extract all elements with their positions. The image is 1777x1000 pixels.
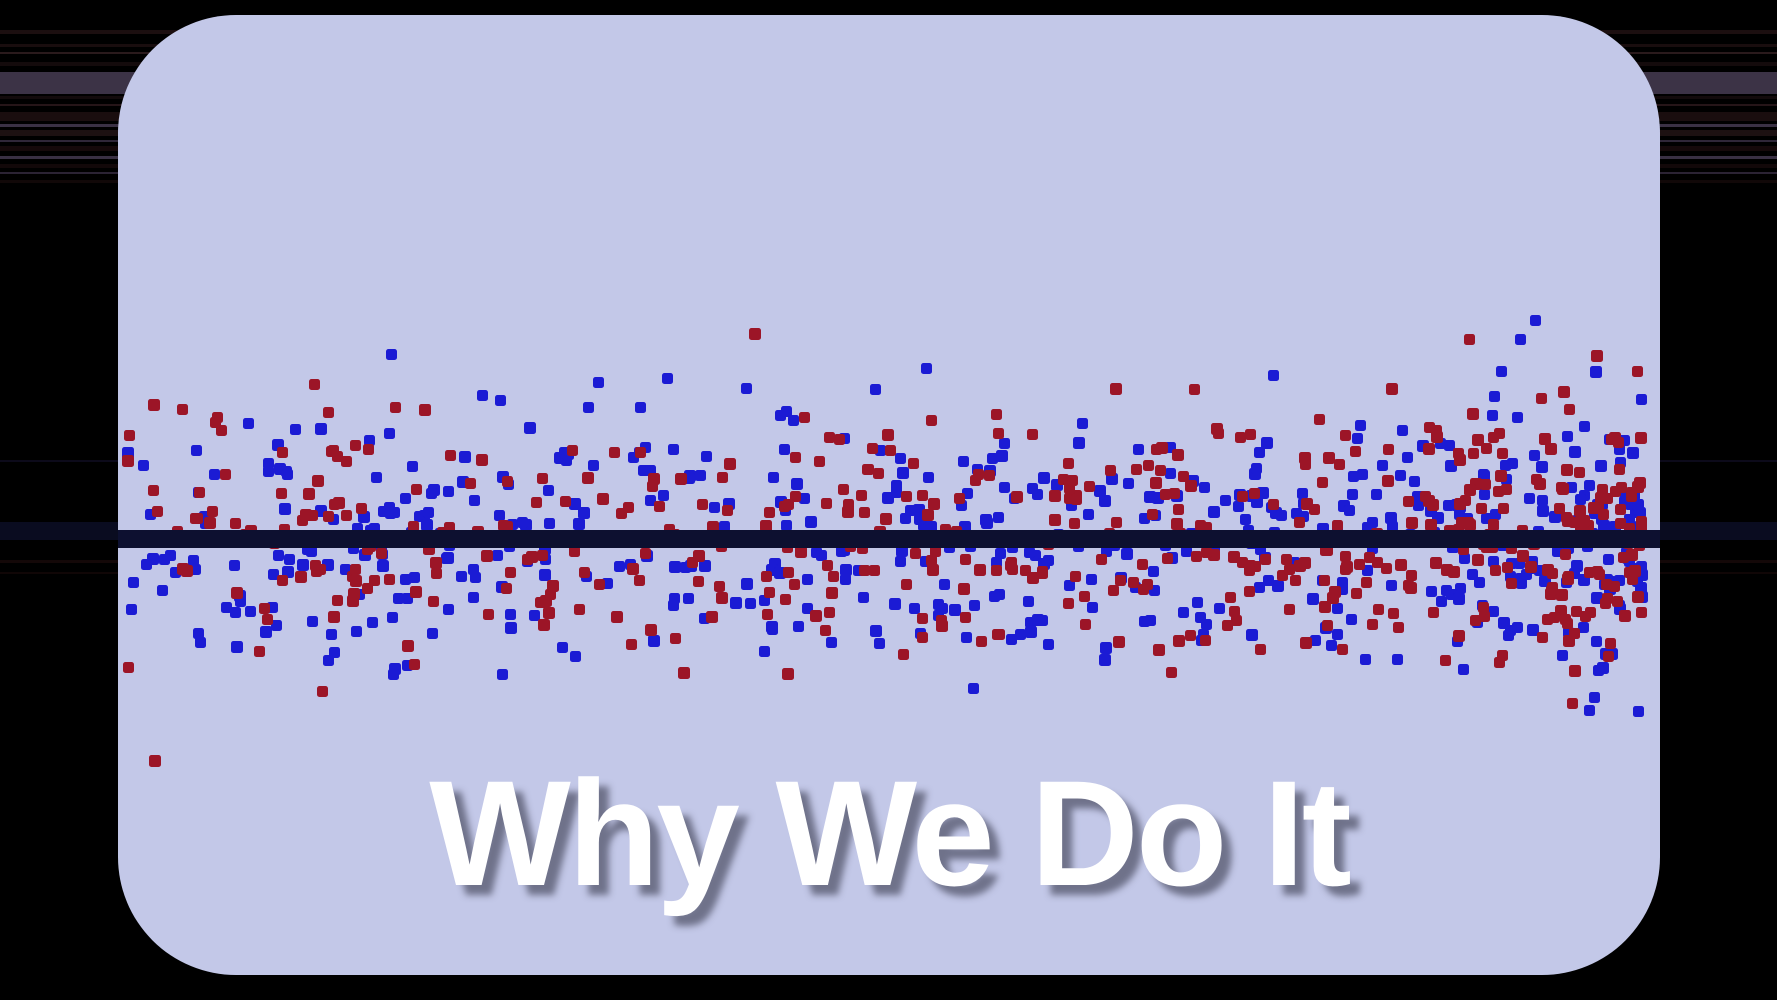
scatter-point bbox=[1367, 517, 1378, 528]
scatter-point bbox=[714, 581, 725, 592]
scatter-point bbox=[840, 574, 851, 585]
scatter-point bbox=[350, 575, 362, 587]
scatter-point bbox=[722, 505, 733, 516]
scatter-point bbox=[759, 646, 770, 657]
scatter-point bbox=[1011, 491, 1023, 503]
scatter-point bbox=[259, 603, 270, 614]
scatter-point bbox=[1027, 483, 1038, 494]
scatter-point bbox=[329, 647, 340, 658]
scatter-point bbox=[1626, 491, 1637, 502]
scatter-point bbox=[1574, 505, 1586, 517]
scatter-point bbox=[141, 559, 152, 570]
scatter-point bbox=[204, 517, 216, 529]
scatter-point bbox=[194, 487, 205, 498]
scatter-point bbox=[976, 636, 987, 647]
scatter-point bbox=[1591, 636, 1602, 647]
scatter-point bbox=[1105, 465, 1116, 476]
scatter-point bbox=[1530, 315, 1541, 326]
scatter-point bbox=[730, 597, 742, 609]
scatter-point bbox=[856, 490, 867, 501]
scatter-point bbox=[961, 632, 972, 643]
scatter-point bbox=[1502, 562, 1513, 573]
scatter-point bbox=[323, 407, 334, 418]
scatter-point bbox=[1409, 476, 1420, 487]
scatter-point bbox=[1515, 334, 1526, 345]
scatter-point bbox=[1496, 366, 1507, 377]
scatter-point bbox=[384, 574, 395, 585]
scatter-point bbox=[648, 635, 660, 647]
content-panel: Why We Do It bbox=[118, 15, 1660, 975]
scatter-point bbox=[1110, 383, 1122, 395]
scatter-point bbox=[741, 578, 753, 590]
scatter-point bbox=[543, 485, 554, 496]
scatter-point bbox=[1536, 461, 1548, 473]
scatter-point bbox=[1563, 571, 1574, 582]
scatter-point bbox=[495, 395, 506, 406]
scatter-point bbox=[300, 509, 312, 521]
scatter-point bbox=[579, 567, 590, 578]
scatter-point bbox=[1500, 460, 1511, 471]
scatter-point bbox=[1488, 520, 1499, 531]
scatter-point bbox=[229, 560, 240, 571]
scatter-point bbox=[1027, 429, 1038, 440]
scatter-point bbox=[279, 503, 291, 515]
scatter-point bbox=[1038, 472, 1050, 484]
scatter-point bbox=[312, 475, 324, 487]
scatter-point bbox=[1453, 593, 1465, 605]
scatter-point bbox=[724, 458, 736, 470]
scatter-point bbox=[502, 476, 513, 487]
scatter-point bbox=[138, 460, 149, 471]
scatter-point bbox=[1307, 593, 1319, 605]
scatter-point bbox=[1299, 557, 1311, 569]
scatter-point bbox=[1071, 494, 1082, 505]
scatter-point bbox=[537, 550, 548, 561]
scatter-point bbox=[675, 473, 687, 485]
scatter-point bbox=[362, 583, 373, 594]
scatter-point bbox=[1561, 512, 1572, 523]
scatter-point bbox=[1531, 474, 1542, 485]
scatter-point bbox=[544, 518, 555, 529]
scatter-point bbox=[917, 490, 928, 501]
scatter-point bbox=[1458, 664, 1469, 675]
scatter-point bbox=[1561, 464, 1573, 476]
scatter-point bbox=[492, 550, 503, 561]
scatter-point bbox=[799, 493, 810, 504]
scatter-point bbox=[1453, 448, 1464, 459]
scatter-point bbox=[640, 548, 651, 559]
scatter-point bbox=[885, 445, 896, 456]
scatter-point bbox=[779, 444, 790, 455]
scatter-point bbox=[826, 637, 837, 648]
scatter-point bbox=[1108, 585, 1119, 596]
scatter-point bbox=[626, 639, 637, 650]
scatter-point bbox=[609, 447, 620, 458]
scatter-point bbox=[921, 363, 932, 374]
scatter-point bbox=[309, 379, 320, 390]
scatter-point bbox=[1558, 386, 1570, 398]
scatter-point bbox=[1173, 635, 1185, 647]
scatter-point bbox=[634, 575, 645, 586]
scatter-point bbox=[1155, 465, 1166, 476]
scatter-point bbox=[1150, 477, 1162, 489]
scatter-point bbox=[443, 604, 454, 615]
scatter-point bbox=[570, 651, 581, 662]
scatter-point bbox=[862, 464, 873, 475]
scatter-point bbox=[538, 619, 550, 631]
scatter-point bbox=[1185, 630, 1196, 641]
scatter-point bbox=[469, 495, 480, 506]
scatter-point bbox=[1591, 350, 1603, 362]
scatter-point bbox=[481, 550, 493, 562]
scatter-point bbox=[791, 478, 803, 490]
scatter-point bbox=[1237, 491, 1248, 502]
scatter-point bbox=[263, 466, 274, 477]
scatter-point bbox=[716, 592, 728, 604]
scatter-point bbox=[762, 609, 773, 620]
page-title: Why We Do It bbox=[118, 758, 1660, 908]
scatter-point bbox=[1403, 580, 1414, 591]
scatter-point bbox=[1178, 607, 1189, 618]
scatter-point bbox=[1441, 564, 1453, 576]
scatter-point bbox=[483, 609, 494, 620]
scatter-point bbox=[505, 622, 517, 634]
scatter-point bbox=[1549, 612, 1560, 623]
scatter-point bbox=[1479, 489, 1490, 500]
scatter-point bbox=[822, 560, 833, 571]
scatter-point bbox=[1208, 506, 1220, 518]
scatter-point bbox=[1153, 644, 1165, 656]
scatter-point bbox=[1006, 634, 1017, 645]
scatter-point bbox=[262, 614, 273, 625]
scatter-point bbox=[1472, 434, 1484, 446]
scatter-point bbox=[805, 516, 817, 528]
scatter-point bbox=[695, 470, 706, 481]
scatter-point bbox=[1487, 410, 1498, 421]
scatter-point bbox=[838, 484, 849, 495]
scatter-point bbox=[1627, 447, 1639, 459]
scatter-point bbox=[1579, 421, 1590, 432]
scatter-point bbox=[400, 574, 411, 585]
scatter-point bbox=[669, 561, 681, 573]
scatter-point bbox=[1489, 391, 1500, 402]
scatter-point bbox=[193, 628, 204, 639]
scatter-point bbox=[1440, 655, 1451, 666]
scatter-point bbox=[1319, 575, 1330, 586]
scatter-point bbox=[1300, 637, 1312, 649]
scatter-point bbox=[1276, 510, 1287, 521]
scatter-point bbox=[1245, 429, 1256, 440]
scatter-point bbox=[1598, 509, 1609, 520]
scatter-point bbox=[670, 633, 681, 644]
scatter-point bbox=[611, 611, 623, 623]
scatter-point bbox=[1454, 498, 1466, 510]
scatter-point bbox=[1592, 566, 1603, 577]
scatter-point bbox=[243, 418, 254, 429]
scatter-point bbox=[1268, 370, 1279, 381]
scatter-point bbox=[810, 610, 822, 622]
scatter-point bbox=[1361, 577, 1372, 588]
baseline-divider bbox=[118, 530, 1660, 548]
scatter-point bbox=[1077, 418, 1088, 429]
scatter-point bbox=[974, 564, 986, 576]
scatter-point bbox=[1073, 437, 1085, 449]
scatter-point bbox=[1373, 604, 1384, 615]
scatter-point bbox=[1314, 414, 1325, 425]
scatter-point bbox=[889, 598, 901, 610]
scatter-point bbox=[1512, 622, 1523, 633]
scatter-point bbox=[122, 455, 134, 467]
scatter-point bbox=[870, 384, 881, 395]
scatter-point bbox=[326, 629, 337, 640]
scatter-point bbox=[1290, 575, 1301, 586]
scatter-point bbox=[768, 472, 779, 483]
scatter-point bbox=[709, 502, 720, 513]
scatter-point bbox=[1498, 503, 1509, 514]
scatter-point bbox=[1529, 450, 1540, 461]
scatter-point bbox=[1086, 574, 1097, 585]
scatter-point bbox=[958, 456, 969, 467]
scatter-point bbox=[1498, 617, 1510, 629]
scatter-point bbox=[969, 600, 980, 611]
scatter-point bbox=[1249, 488, 1260, 499]
scatter-point bbox=[1142, 579, 1153, 590]
scatter-point bbox=[1220, 495, 1231, 506]
scatter-point bbox=[276, 488, 287, 499]
scatter-point bbox=[1069, 518, 1080, 529]
scatter-point bbox=[635, 402, 646, 413]
scatter-point bbox=[895, 556, 906, 567]
scatter-point bbox=[1024, 547, 1035, 558]
scatter-point bbox=[1263, 575, 1274, 586]
scatter-point bbox=[1584, 705, 1595, 716]
scatter-point bbox=[1201, 547, 1212, 558]
scatter-point bbox=[645, 624, 657, 636]
scatter-point bbox=[761, 571, 772, 582]
scatter-point bbox=[820, 625, 831, 636]
scatter-point bbox=[658, 490, 669, 501]
scatter-point bbox=[376, 548, 387, 559]
scatter-point bbox=[991, 409, 1002, 420]
scatter-point bbox=[1123, 478, 1134, 489]
scatter-point bbox=[273, 550, 284, 561]
scatter-point bbox=[683, 593, 694, 604]
scatter-point bbox=[788, 415, 799, 426]
scatter-point bbox=[874, 638, 885, 649]
scatter-point bbox=[277, 447, 288, 458]
scatter-point bbox=[1453, 630, 1465, 642]
scatter-point bbox=[706, 611, 718, 623]
scatter-point bbox=[1546, 585, 1557, 596]
scatter-point bbox=[1494, 428, 1505, 439]
scatter-point bbox=[1560, 549, 1571, 560]
scatter-point bbox=[840, 564, 852, 576]
scatter-point bbox=[390, 402, 401, 413]
scatter-point bbox=[697, 499, 708, 510]
scatter-point bbox=[1603, 651, 1614, 662]
scatter-point bbox=[1397, 425, 1408, 436]
scatter-point bbox=[356, 503, 367, 514]
scatter-point bbox=[1199, 482, 1210, 493]
scatter-point bbox=[1063, 458, 1074, 469]
scatter-point bbox=[1268, 499, 1279, 510]
scatter-point bbox=[445, 450, 456, 461]
scatter-point bbox=[1111, 517, 1122, 528]
scatter-point bbox=[1512, 412, 1523, 423]
scatter-point bbox=[1602, 493, 1613, 504]
scatter-point bbox=[654, 501, 665, 512]
scatter-point bbox=[468, 564, 479, 575]
scatter-point bbox=[981, 517, 993, 529]
scatter-point bbox=[917, 613, 928, 624]
scatter-point bbox=[1600, 598, 1611, 609]
scatter-point bbox=[1392, 654, 1403, 665]
scatter-point bbox=[783, 499, 794, 510]
scatter-point bbox=[1388, 608, 1399, 619]
scatter-point bbox=[350, 564, 361, 575]
scatter-point bbox=[764, 587, 775, 598]
scatter-point bbox=[897, 467, 909, 479]
scatter-point bbox=[329, 499, 340, 510]
scatter-point bbox=[351, 626, 362, 637]
scatter-point bbox=[1395, 470, 1406, 481]
scatter-point bbox=[1133, 444, 1144, 455]
scatter-point bbox=[1144, 491, 1156, 503]
scatter-point bbox=[767, 624, 778, 635]
scatter-point bbox=[1131, 464, 1142, 475]
scatter-point bbox=[1246, 629, 1258, 641]
scatter-point bbox=[148, 485, 159, 496]
scatter-point bbox=[1037, 615, 1048, 626]
scatter-point bbox=[1545, 443, 1557, 455]
scatter-point bbox=[1352, 433, 1363, 444]
scatter-point bbox=[1629, 565, 1641, 577]
scatter-point bbox=[1254, 447, 1265, 458]
scatter-point bbox=[895, 453, 906, 464]
scatter-point bbox=[1614, 464, 1625, 475]
scatter-point bbox=[1428, 607, 1439, 618]
scatter-point bbox=[991, 565, 1002, 576]
scatter-point bbox=[922, 509, 934, 521]
scatter-point bbox=[926, 415, 937, 426]
scatter-point bbox=[1395, 559, 1407, 571]
scatter-point bbox=[1479, 611, 1490, 622]
scatter-point bbox=[1322, 620, 1333, 631]
scatter-point bbox=[1351, 588, 1362, 599]
scatter-point bbox=[1162, 553, 1173, 564]
scatter-point bbox=[1537, 632, 1548, 643]
scatter-point bbox=[799, 412, 810, 423]
scatter-point bbox=[783, 567, 794, 578]
scatter-point bbox=[128, 577, 139, 588]
scatter-point bbox=[290, 424, 301, 435]
scatter-point bbox=[989, 591, 1000, 602]
scatter-point bbox=[1023, 596, 1034, 607]
scatter-point bbox=[693, 576, 704, 587]
scatter-point bbox=[1618, 552, 1629, 563]
scatter-point bbox=[1564, 404, 1575, 415]
scatter-point bbox=[411, 484, 422, 495]
scatter-point bbox=[1309, 504, 1320, 515]
scatter-point bbox=[873, 468, 884, 479]
scatter-point bbox=[1393, 622, 1404, 633]
scatter-point bbox=[802, 574, 813, 585]
scatter-point bbox=[409, 659, 420, 670]
scatter-point bbox=[1332, 603, 1343, 614]
scatter-point bbox=[1225, 592, 1236, 603]
scatter-point bbox=[648, 473, 660, 485]
scatter-point bbox=[995, 548, 1006, 559]
scatter-point bbox=[277, 575, 288, 586]
scatter-point bbox=[230, 607, 241, 618]
scatter-point bbox=[928, 498, 940, 510]
scatter-point bbox=[207, 506, 218, 517]
scatter-point bbox=[1406, 517, 1418, 529]
scatter-point bbox=[1632, 591, 1644, 603]
scatter-point bbox=[1603, 554, 1614, 565]
scatter-point bbox=[999, 438, 1010, 449]
scatter-point bbox=[1605, 638, 1616, 649]
scatter-point bbox=[1113, 636, 1125, 648]
scatter-point bbox=[789, 579, 800, 590]
scatter-point bbox=[593, 377, 604, 388]
slide-canvas: Why We Do It bbox=[0, 0, 1777, 1000]
scatter-point bbox=[388, 669, 399, 680]
scatter-point bbox=[505, 609, 516, 620]
scatter-point bbox=[960, 554, 971, 565]
scatter-point bbox=[1501, 484, 1512, 495]
scatter-point bbox=[1619, 610, 1631, 622]
scatter-point bbox=[1329, 586, 1341, 598]
scatter-point bbox=[1067, 475, 1078, 486]
scatter-point bbox=[867, 443, 878, 454]
scatter-point bbox=[245, 606, 256, 617]
scatter-point bbox=[1636, 394, 1647, 405]
scatter-point bbox=[993, 512, 1004, 523]
scatter-point bbox=[328, 611, 340, 623]
scatter-point bbox=[442, 552, 454, 564]
scatter-point bbox=[1261, 437, 1273, 449]
scatter-point bbox=[1467, 569, 1478, 580]
scatter-point bbox=[402, 640, 414, 652]
scatter-point bbox=[423, 507, 434, 518]
scatter-point bbox=[996, 450, 1008, 462]
scatter-point bbox=[936, 615, 947, 626]
scatter-point bbox=[828, 571, 839, 582]
scatter-point bbox=[1590, 366, 1602, 378]
scatter-point bbox=[426, 488, 437, 499]
scatter-point bbox=[210, 417, 221, 428]
scatter-point bbox=[1574, 467, 1585, 478]
scatter-point bbox=[1497, 448, 1508, 459]
scatter-point bbox=[782, 668, 794, 680]
scatter-point bbox=[332, 595, 343, 606]
scatter-point bbox=[1340, 430, 1351, 441]
scatter-point bbox=[574, 604, 585, 615]
scatter-point bbox=[842, 506, 854, 518]
scatter-point bbox=[501, 583, 512, 594]
scatter-point bbox=[547, 580, 559, 592]
scatter-point bbox=[1192, 597, 1203, 608]
scatter-point bbox=[1569, 628, 1580, 639]
scatter-point bbox=[870, 625, 882, 637]
scatter-point bbox=[1464, 484, 1476, 496]
scatter-point bbox=[459, 451, 471, 463]
scatter-point bbox=[1323, 452, 1335, 464]
scatter-point bbox=[1025, 626, 1037, 638]
scatter-point bbox=[476, 454, 488, 466]
scatter-point bbox=[1557, 650, 1568, 661]
